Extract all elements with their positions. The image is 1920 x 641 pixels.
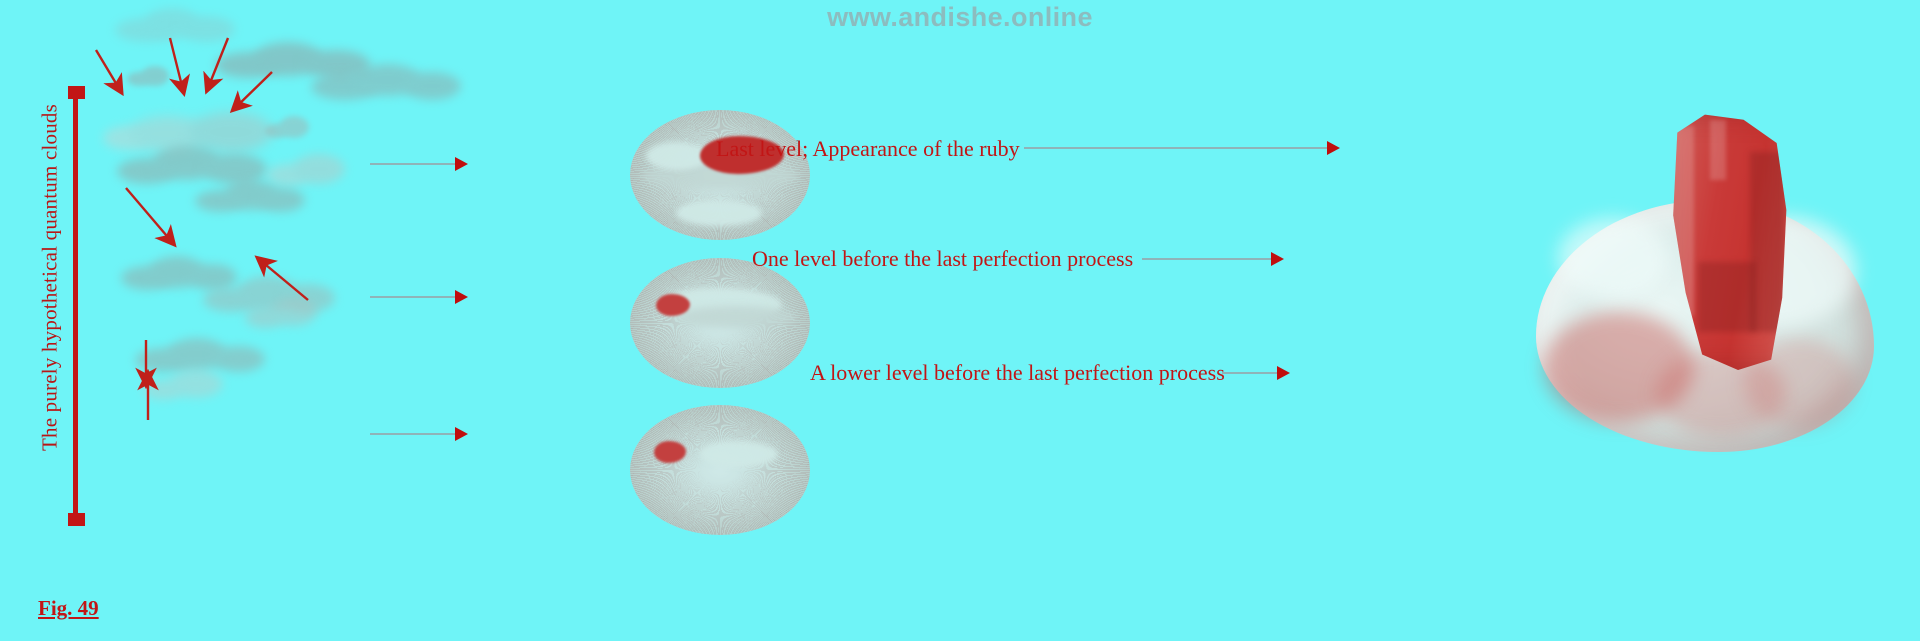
crystal-shadow bbox=[1698, 262, 1756, 332]
arrow-right-icon bbox=[370, 157, 468, 171]
oval-band bbox=[676, 306, 796, 328]
oval-pale-cloud bbox=[700, 441, 778, 467]
arrow-right-icon bbox=[1142, 252, 1284, 266]
crystal-facet bbox=[1710, 120, 1726, 180]
oval-pale-cloud bbox=[676, 200, 762, 226]
oval-pale-cloud bbox=[646, 142, 708, 170]
arrow-right-icon bbox=[370, 427, 468, 441]
quantum-oval-stage-1 bbox=[630, 110, 810, 240]
arrow-right-icon bbox=[1024, 141, 1340, 155]
oval-streaks bbox=[630, 405, 810, 535]
bracket-stem bbox=[73, 86, 78, 526]
quantum-oval-stage-3 bbox=[630, 405, 810, 535]
cloud-pointer-arrows bbox=[80, 10, 500, 430]
bracket-cap-bottom bbox=[68, 513, 85, 526]
ruby-specimen bbox=[1530, 108, 1910, 458]
matrix-highlight bbox=[1558, 218, 1668, 298]
stage-label-2: One level before the last perfection pro… bbox=[752, 246, 1133, 272]
stage-label-3: A lower level before the last perfection… bbox=[810, 360, 1225, 386]
arrow-right-icon bbox=[1222, 366, 1290, 380]
stage-label-1: Last level; Appearance of the ruby bbox=[716, 136, 1020, 162]
quantum-oval-stage-2 bbox=[630, 258, 810, 388]
figure-canvas: www.andishe.online The purely hypothetic… bbox=[0, 0, 1920, 641]
arrow-right-icon bbox=[370, 290, 468, 304]
figure-caption: Fig. 49 bbox=[38, 596, 99, 621]
quantum-clouds-label: The purely hypothetical quantum clouds bbox=[38, 68, 63, 488]
